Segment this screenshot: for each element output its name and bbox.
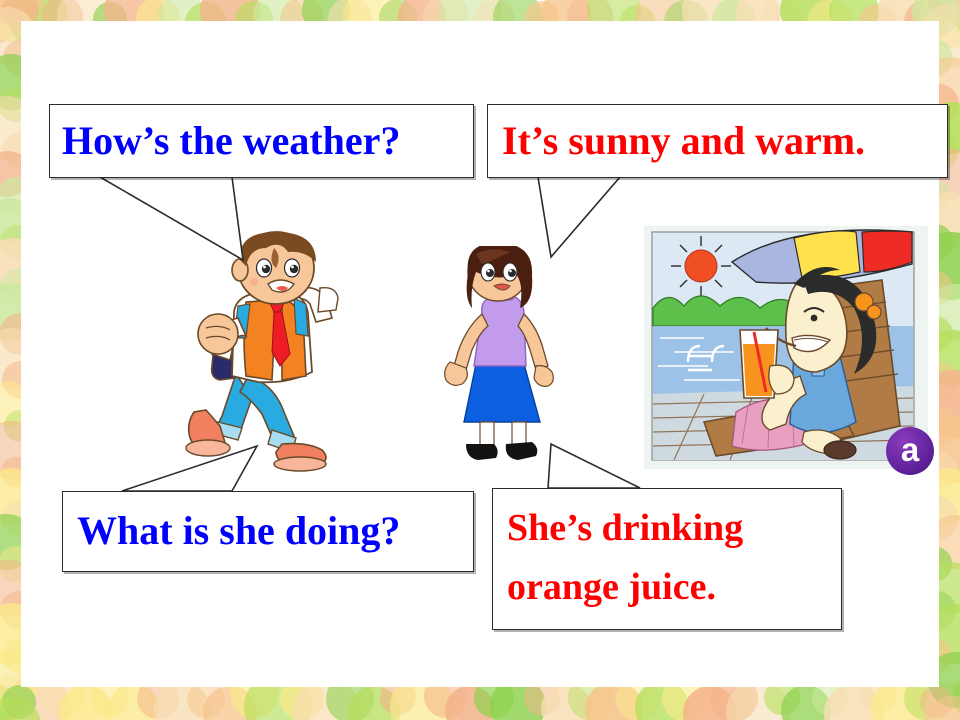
border-circle (781, 685, 832, 720)
border-circle (925, 0, 960, 19)
bubble-text-doing-answer: She’s drinking orange juice. (507, 499, 827, 617)
cartoon-boy-figure (176, 226, 366, 476)
border-circle (2, 685, 37, 720)
speech-bubble-weather-question[interactable]: How’s the weather? (49, 104, 474, 178)
border-circle (726, 680, 791, 720)
border-circle (925, 683, 960, 720)
speech-bubble-doing-answer[interactable]: She’s drinking orange juice. (492, 488, 842, 630)
border-circle (0, 0, 46, 22)
bubble-text-weather-question: How’s the weather? (62, 117, 461, 166)
speech-bubble-weather-answer[interactable]: It’s sunny and warm. (487, 104, 948, 178)
border-circle (635, 681, 688, 720)
border-circle (187, 681, 225, 719)
border-circle (824, 684, 883, 720)
border-circle (59, 685, 113, 720)
border-circle (0, 0, 22, 45)
cartoon-girl-figure (432, 246, 572, 468)
border-circle (348, 686, 401, 720)
border-circle (0, 682, 16, 720)
slide-canvas: a How’s the weather? It’s sunny and warm… (0, 0, 960, 720)
speech-bubble-doing-question[interactable]: What is she doing? (62, 491, 474, 572)
bubble-text-weather-answer: It’s sunny and warm. (502, 117, 933, 166)
border-circle (683, 686, 738, 720)
border-circle (154, 682, 210, 720)
border-circle (445, 686, 494, 720)
border-circle (203, 686, 257, 720)
poolside-illustration: a (644, 226, 928, 469)
border-circle (585, 681, 643, 720)
border-circle (109, 683, 159, 720)
border-circle (541, 683, 591, 720)
bubble-text-doing-question: What is she doing? (77, 507, 459, 556)
border-circle (923, 696, 960, 720)
badge-a: a (886, 427, 934, 475)
border-circle (953, 675, 960, 717)
border-circle (920, 686, 953, 719)
border-circle (0, 697, 41, 720)
border-circle (955, 0, 960, 37)
